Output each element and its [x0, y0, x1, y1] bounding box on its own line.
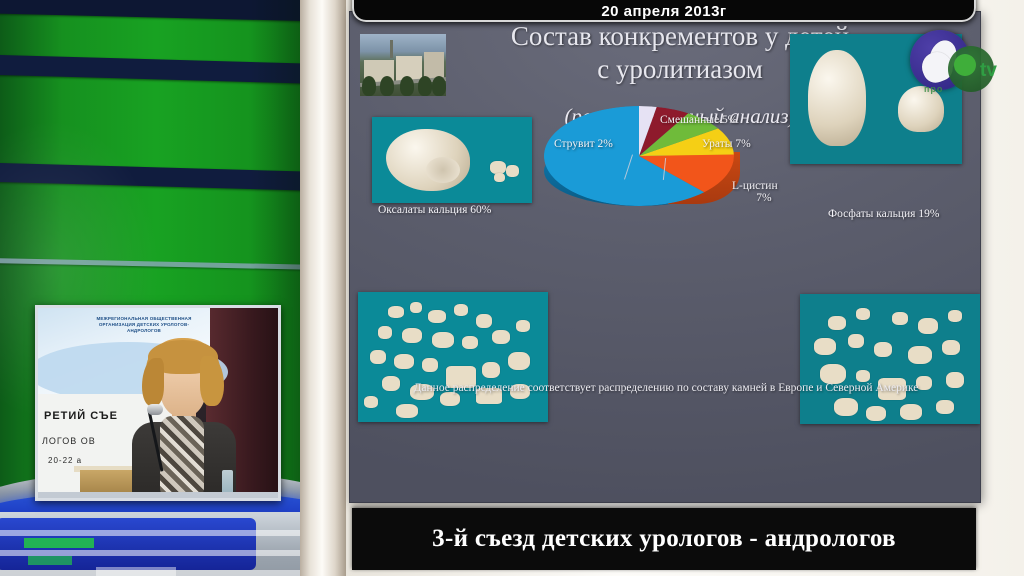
speaker-figure	[130, 338, 238, 500]
speaker-scarf	[160, 416, 204, 500]
tower-shape	[390, 40, 393, 58]
stone-photo-bottom-left	[358, 292, 548, 422]
pie-label-cystine: L-цистин 7%	[732, 180, 778, 204]
stone-fragment	[506, 165, 519, 177]
date-banner-text: 20 апреля 2013г	[601, 3, 726, 20]
organization-banner-text: МЕЖРЕГИОНАЛЬНАЯ ОБЩЕСТВЕННАЯ ОРГАНИЗАЦИЯ…	[84, 316, 204, 334]
kidney-stone	[808, 50, 866, 146]
stone-photo-bottom-right	[800, 294, 980, 424]
event-title-text: 3-й съезд детских урологов - андрологов	[432, 525, 896, 553]
logo-tv-text: tv	[980, 60, 997, 82]
broadcast-screen: МЕЖРЕГИОНАЛЬНАЯ ОБЩЕСТВЕННАЯ ОРГАНИЗАЦИЯ…	[0, 0, 1024, 576]
pie-label-mixed: Смешанные 5%	[660, 114, 737, 126]
board-line-3: 20-22 а	[48, 456, 82, 465]
slide-note: Данное распределение соответствует распр…	[386, 380, 946, 396]
board-line-1: РЕТИЙ СЪЕ	[44, 410, 118, 422]
speaker-hair-side	[142, 358, 164, 406]
pie-label-oxalate: Оксалаты кальция 60%	[378, 204, 491, 216]
pip-bottom-bar	[38, 492, 278, 498]
logo-word-mark: про	[924, 84, 943, 94]
microphone-icon	[147, 404, 163, 415]
pie-label-cystine-value: 7%	[732, 192, 778, 204]
logo-dot-icon	[954, 54, 976, 76]
tree-shape	[400, 76, 414, 96]
pie-label-cystine-name: L-цистин	[732, 180, 778, 192]
pie-label-struvite: Струвит 2%	[554, 138, 613, 150]
tree-shape	[362, 76, 376, 96]
tree-shape	[380, 76, 394, 96]
stone-photo-top-left	[372, 117, 532, 203]
speaker-hair-side	[200, 356, 224, 406]
presentation-slide[interactable]: Состав конкрементов у детей с уролитиазо…	[350, 12, 980, 502]
desk-slat	[0, 550, 344, 556]
pie-chart	[536, 80, 746, 230]
board-line-2: ЛОГОВ ОВ	[42, 436, 96, 446]
event-title-banner: 3-й съезд детских урологов - андрологов	[352, 508, 976, 570]
pie-label-phosphate: Фосфаты кальция 19%	[828, 208, 939, 220]
pie-label-urate: Ураты 7%	[702, 138, 751, 150]
studio-column	[300, 0, 346, 576]
desk-green-accent	[28, 556, 72, 565]
stone-core	[426, 157, 460, 183]
desk-highlight	[96, 567, 176, 576]
channel-logo: tv про	[906, 28, 1006, 110]
date-banner: 20 апреля 2013г	[352, 0, 976, 22]
kidney-stone	[386, 129, 470, 191]
desk-slat	[0, 530, 344, 536]
desk-front-panel	[0, 512, 344, 576]
desk-green-accent	[24, 538, 94, 548]
stone-fragment	[494, 173, 505, 182]
speaker-video-inset[interactable]: МЕЖРЕГИОНАЛЬНАЯ ОБЩЕСТВЕННАЯ ОРГАНИЗАЦИЯ…	[35, 305, 281, 501]
